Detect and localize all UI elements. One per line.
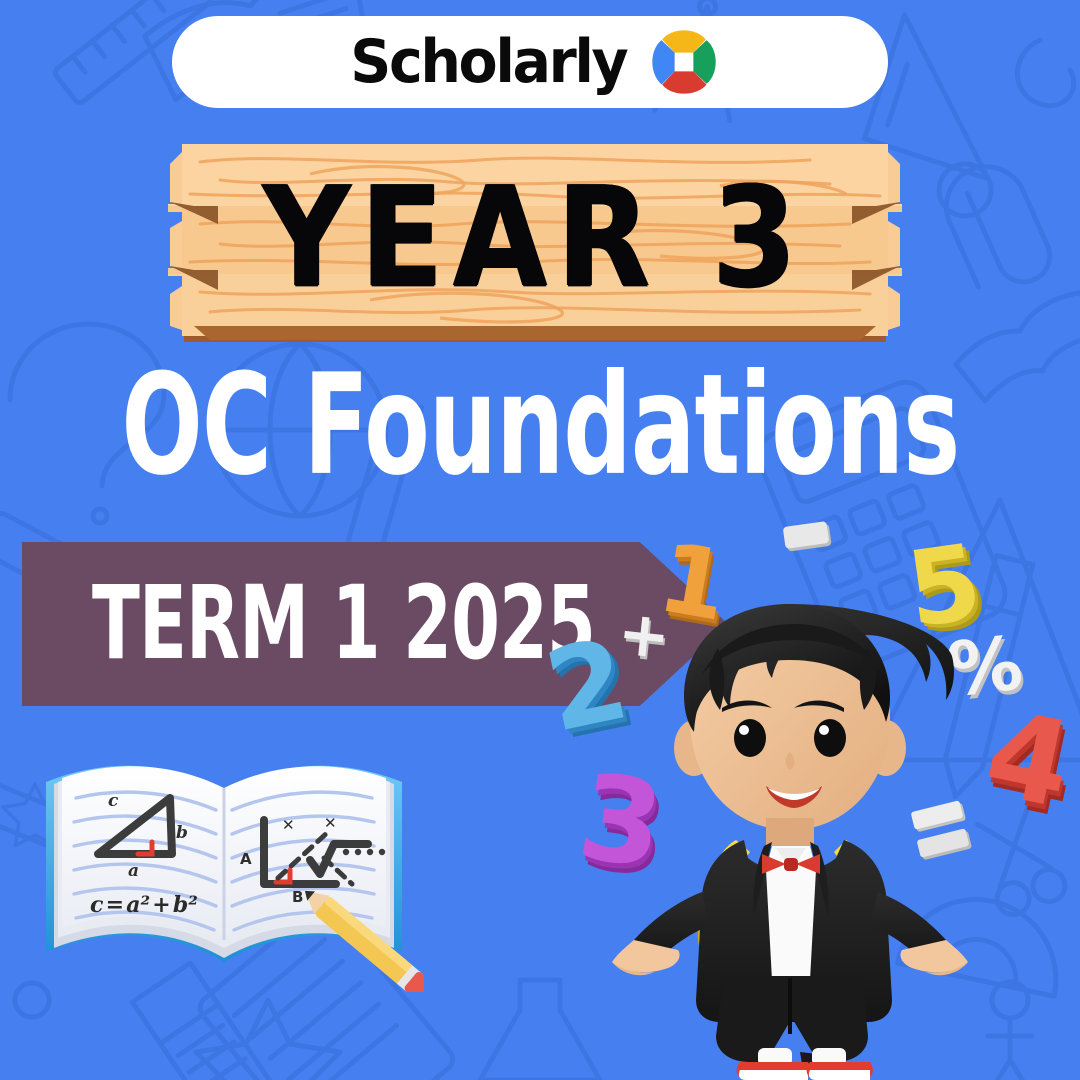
sign-label-wrap: YEAR 3 (160, 140, 910, 345)
page-title: OC Foundations (121, 355, 959, 494)
triangle-side-label-b: b (176, 823, 188, 843)
vertex-label-a: A (240, 850, 252, 868)
term-label: TERM 1 2025 (92, 573, 595, 674)
triangle-side-label-c: c (108, 791, 119, 811)
student-boy-3d-character-illustration (598, 596, 1018, 1080)
open-notebook-with-maths-icon: c b a c = a² + b² A B ✕ ✕ (24, 742, 424, 992)
poster-canvas: Scholarly (0, 0, 1080, 1080)
headline-wrap: OC Foundations (0, 355, 1080, 459)
brand-wordmark: Scholarly (350, 32, 626, 92)
brand-logo-pill[interactable]: Scholarly (172, 16, 888, 108)
cross-mark-2: ✕ (324, 814, 337, 832)
pythagoras-formula: c = a² + b² (90, 892, 198, 918)
vertex-label-b: B (292, 888, 303, 906)
eraser-block-icon (783, 521, 830, 549)
cross-mark-1: ✕ (282, 816, 295, 834)
wooden-sign: YEAR 3 (160, 140, 910, 345)
sign-label: YEAR 3 (263, 169, 807, 307)
triangle-side-label-a: a (128, 861, 139, 881)
scholarly-four-petal-logo-icon (651, 29, 717, 95)
